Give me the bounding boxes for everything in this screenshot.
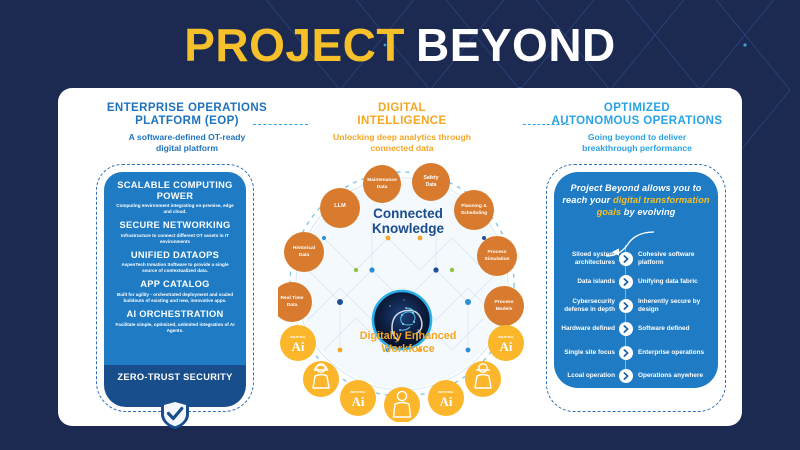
eop-item[interactable]: SECURE NETWORKING Infrastructure to conn… bbox=[110, 220, 240, 245]
connected-knowledge-diagram: CONTEXTUALIZED DATA LLM Maintenance Data… bbox=[278, 160, 526, 422]
left-heading-line2: PLATFORM (EOP) bbox=[135, 115, 239, 127]
comparison-row[interactable]: Siloed system architectures Cohesive sof… bbox=[556, 250, 716, 267]
chevron-right-icon bbox=[619, 346, 633, 360]
comparison-row[interactable]: Cybersecurity defense in depth Inherentl… bbox=[556, 297, 716, 314]
right-subtitle-line1: Going beyond to deliver bbox=[588, 132, 686, 142]
middle-heading-line2: INTELLIGENCE bbox=[357, 115, 446, 127]
eop-item[interactable]: UNIFIED DATAOPS AspenTech Inmation Softw… bbox=[110, 250, 240, 275]
right-heading-line1: OPTIMIZED bbox=[604, 102, 670, 114]
workforce-node[interactable] bbox=[384, 387, 420, 422]
comparison-from: Lcoal operation bbox=[556, 372, 619, 380]
comparison-row[interactable]: Lcoal operation Operations anywhere bbox=[556, 368, 716, 385]
data-node[interactable]: Historical Data bbox=[284, 232, 324, 272]
eop-item-title: APP CATALOG bbox=[110, 279, 240, 290]
svg-text:Simulation: Simulation bbox=[485, 256, 510, 262]
eop-item-desc: Infrastructure to connect different OT a… bbox=[110, 233, 240, 245]
eop-item[interactable]: SCALABLE COMPUTING POWER Computing envir… bbox=[110, 180, 240, 215]
middle-subtitle-line1: Unlocking deep analytics through bbox=[333, 132, 471, 142]
dew-line1: Digitally Enhanced bbox=[360, 330, 457, 342]
title-word-project: PROJECT bbox=[184, 18, 405, 72]
chevron-right-icon bbox=[619, 252, 633, 266]
eop-panel: SCALABLE COMPUTING POWER Computing envir… bbox=[104, 172, 246, 365]
title-word-beyond: BEYOND bbox=[416, 18, 616, 72]
quote-part2: by evolving bbox=[621, 207, 675, 217]
digitally-enhanced-workforce-title: Digitally Enhanced Workforce bbox=[330, 330, 486, 355]
middle-subtitle-line2: connected data bbox=[370, 143, 433, 153]
data-node[interactable]: Process Models bbox=[484, 286, 524, 326]
project-beyond-quote: Project Beyond allows you to reach your … bbox=[562, 182, 710, 218]
svg-text:Historical: Historical bbox=[293, 245, 316, 251]
workforce-node[interactable]: INDUSTRIAL Ai bbox=[488, 325, 524, 361]
chevron-right-icon bbox=[619, 299, 633, 313]
svg-text:Real Time: Real Time bbox=[280, 295, 303, 301]
data-node[interactable]: Safety Data bbox=[412, 163, 450, 201]
svg-text:Process: Process bbox=[487, 249, 506, 255]
workforce-node[interactable] bbox=[303, 361, 339, 397]
chevron-right-icon bbox=[619, 322, 633, 336]
eop-item-title: SCALABLE COMPUTING POWER bbox=[110, 180, 240, 201]
comparison-to: Inherently secure by design bbox=[633, 298, 711, 313]
chevron-right-icon bbox=[619, 369, 633, 383]
svg-text:Data: Data bbox=[426, 182, 437, 188]
left-subtitle-line2: digital platform bbox=[156, 143, 218, 153]
zero-trust-label: ZERO-TRUST SECURITY bbox=[117, 372, 232, 383]
eop-item-title: UNIFIED DATAOPS bbox=[110, 250, 240, 261]
comparison-to: Operations anywhere bbox=[633, 372, 711, 380]
comparison-from: Hardware defined bbox=[556, 325, 619, 333]
eop-item-desc: Computing environment integrating on-pre… bbox=[110, 203, 240, 215]
comparison-to: Unifying data fabric bbox=[633, 278, 711, 286]
svg-text:Ai: Ai bbox=[352, 394, 365, 409]
left-heading-line1: ENTERPRISE OPERATIONS bbox=[107, 102, 267, 114]
comparison-list: Siloed system architectures Cohesive sof… bbox=[556, 250, 716, 391]
comparison-from: Single site focus bbox=[556, 349, 619, 357]
workforce-node[interactable]: INDUSTRIAL Ai bbox=[340, 380, 376, 416]
middle-column-header: DIGITAL INTELLIGENCE Unlocking deep anal… bbox=[300, 88, 504, 153]
svg-text:Data: Data bbox=[287, 302, 298, 308]
eop-item[interactable]: APP CATALOG Built for agility - orchestr… bbox=[110, 279, 240, 304]
comparison-to: Enterprise operations bbox=[633, 349, 711, 357]
svg-text:Ai: Ai bbox=[440, 394, 453, 409]
svg-text:Data: Data bbox=[377, 184, 388, 190]
eop-item-desc: AspenTech Inmation Software to provide a… bbox=[110, 262, 240, 274]
connected-knowledge-title: Connected Knowledge bbox=[338, 206, 478, 236]
svg-text:Data: Data bbox=[299, 252, 310, 258]
comparison-row[interactable]: Hardware defined Software defined bbox=[556, 321, 716, 338]
data-node[interactable]: Maintenance Data bbox=[363, 165, 401, 203]
svg-text:Safety: Safety bbox=[423, 175, 438, 181]
chevron-right-icon bbox=[619, 275, 633, 289]
comparison-from: Data islands bbox=[556, 278, 619, 286]
eop-item[interactable]: AI ORCHESTRATION Facilitate simple, opti… bbox=[110, 309, 240, 334]
eop-item-desc: Built for agility - orchestrated deploym… bbox=[110, 292, 240, 304]
middle-heading-line1: DIGITAL bbox=[378, 102, 426, 114]
left-subtitle-line1: A software-defined OT-ready bbox=[129, 132, 246, 142]
dew-line2: Workforce bbox=[381, 343, 434, 355]
workforce-node[interactable]: INDUSTRIAL Ai bbox=[428, 380, 464, 416]
svg-text:Models: Models bbox=[496, 306, 513, 312]
right-heading-line2: AUTONOMOUS OPERATIONS bbox=[552, 115, 723, 127]
ck-line2: Knowledge bbox=[372, 221, 444, 236]
shield-check-icon bbox=[160, 398, 190, 430]
right-subtitle-line2: breakthrough performance bbox=[582, 143, 692, 153]
comparison-to: Cohesive software platform bbox=[633, 251, 711, 266]
comparison-to: Software defined bbox=[633, 325, 711, 333]
workforce-node[interactable] bbox=[465, 361, 501, 397]
eop-item-desc: Facilitate simple, optimized, unlimited … bbox=[110, 322, 240, 334]
comparison-from: Siloed system architectures bbox=[556, 251, 619, 266]
data-node[interactable]: Process Simulation bbox=[477, 236, 517, 276]
right-column-header: OPTIMIZED AUTONOMOUS OPERATIONS Going be… bbox=[527, 88, 747, 153]
left-column-header: ENTERPRISE OPERATIONS PLATFORM (EOP) A s… bbox=[72, 88, 302, 153]
comparison-row[interactable]: Single site focus Enterprise operations bbox=[556, 344, 716, 361]
comparison-row[interactable]: Data islands Unifying data fabric bbox=[556, 274, 716, 291]
eop-item-title: SECURE NETWORKING bbox=[110, 220, 240, 231]
workforce-node[interactable]: INDUSTRIAL Ai bbox=[280, 325, 316, 361]
svg-text:Ai: Ai bbox=[292, 339, 305, 354]
svg-text:Ai: Ai bbox=[500, 339, 513, 354]
ck-line1: Connected bbox=[373, 206, 443, 221]
svg-text:Maintenance: Maintenance bbox=[367, 177, 397, 183]
svg-text:Process: Process bbox=[494, 299, 513, 305]
eop-item-title: AI ORCHESTRATION bbox=[110, 309, 240, 320]
comparison-from: Cybersecurity defense in depth bbox=[556, 298, 619, 313]
page-title: PROJECT BEYOND bbox=[0, 14, 800, 76]
